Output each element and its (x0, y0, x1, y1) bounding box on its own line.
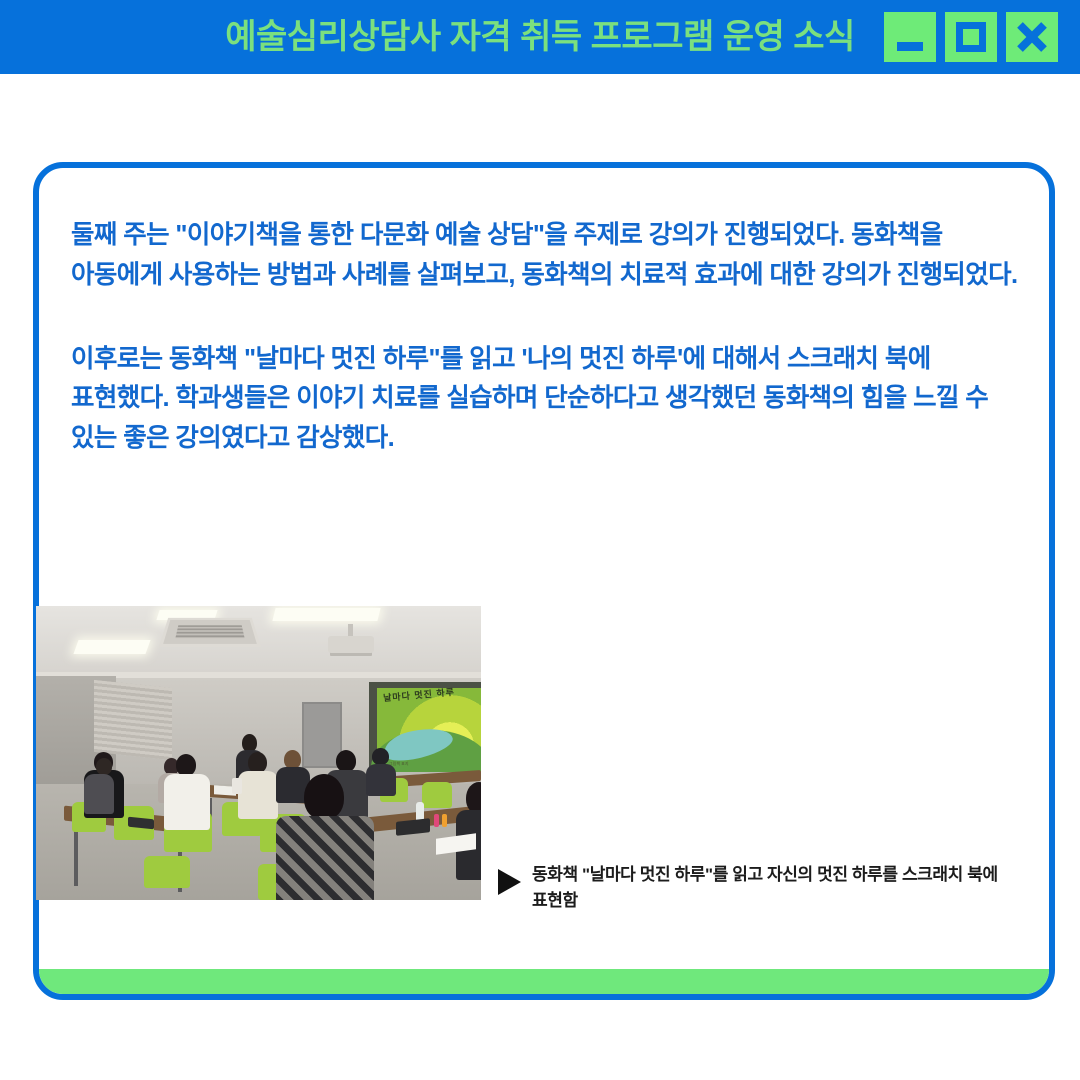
marker-pen (434, 814, 439, 827)
student-head (248, 752, 267, 773)
minimize-icon (897, 42, 923, 51)
page-title: 예술심리상담사 자격 취득 프로그램 운영 소식 (225, 20, 855, 54)
minimize-button[interactable] (884, 12, 936, 62)
maximize-button[interactable] (945, 12, 997, 62)
body-paragraph-1: 둘째 주는 "이야기책을 통한 다문화 예술 상담"을 주제로 강의가 진행되었… (71, 216, 1027, 296)
close-icon (1017, 22, 1047, 52)
window-blind (94, 680, 172, 760)
window-controls (884, 12, 1058, 62)
photo-caption-text: 동화책 "날마다 멋진 하루"를 읽고 자신의 멋진 하루를 스크래치 북에 표… (532, 862, 1032, 914)
student-head (336, 750, 356, 772)
play-triangle-icon (498, 869, 521, 895)
ceiling-light (272, 608, 380, 621)
student-torso (84, 774, 114, 814)
chair (422, 782, 452, 808)
student-torso (238, 771, 278, 819)
card-footer-band (39, 969, 1049, 994)
photo-caption: 동화책 "날마다 멋진 하루"를 읽고 자신의 멋진 하루를 스크래치 북에 표… (498, 862, 1038, 914)
classroom-photo: 날마다 멋진 하루 그림책 표지 (36, 606, 481, 900)
student-head (372, 748, 389, 765)
student-torso (366, 764, 396, 796)
chair (144, 856, 190, 888)
air-conditioner-vent (159, 618, 261, 647)
page-root: 예술심리상담사 자격 취득 프로그램 운영 소식 둘째 주는 "이야기책을 통한… (0, 0, 1080, 1080)
card-body: 둘째 주는 "이야기책을 통한 다문화 예술 상담"을 주제로 강의가 진행되었… (39, 168, 1049, 459)
student-head (176, 754, 196, 776)
student-head (304, 774, 344, 820)
student-torso (164, 774, 210, 830)
close-button[interactable] (1006, 12, 1058, 62)
table-leg (74, 824, 78, 886)
cup (232, 778, 242, 794)
classroom-photo-image: 날마다 멋진 하루 그림책 표지 (36, 606, 481, 900)
student-torso (276, 816, 374, 900)
projector (328, 636, 374, 653)
vent-louvers (175, 625, 244, 638)
marker-pen (442, 814, 447, 827)
maximize-icon (956, 22, 986, 52)
student-head (96, 758, 112, 775)
ceiling-light (73, 640, 150, 654)
body-paragraph-2: 이후로는 동화책 "날마다 멋진 하루"를 읽고 '나의 멋진 하루'에 대해서… (71, 340, 1027, 459)
window-titlebar: 예술심리상담사 자격 취득 프로그램 운영 소식 (0, 0, 1080, 74)
